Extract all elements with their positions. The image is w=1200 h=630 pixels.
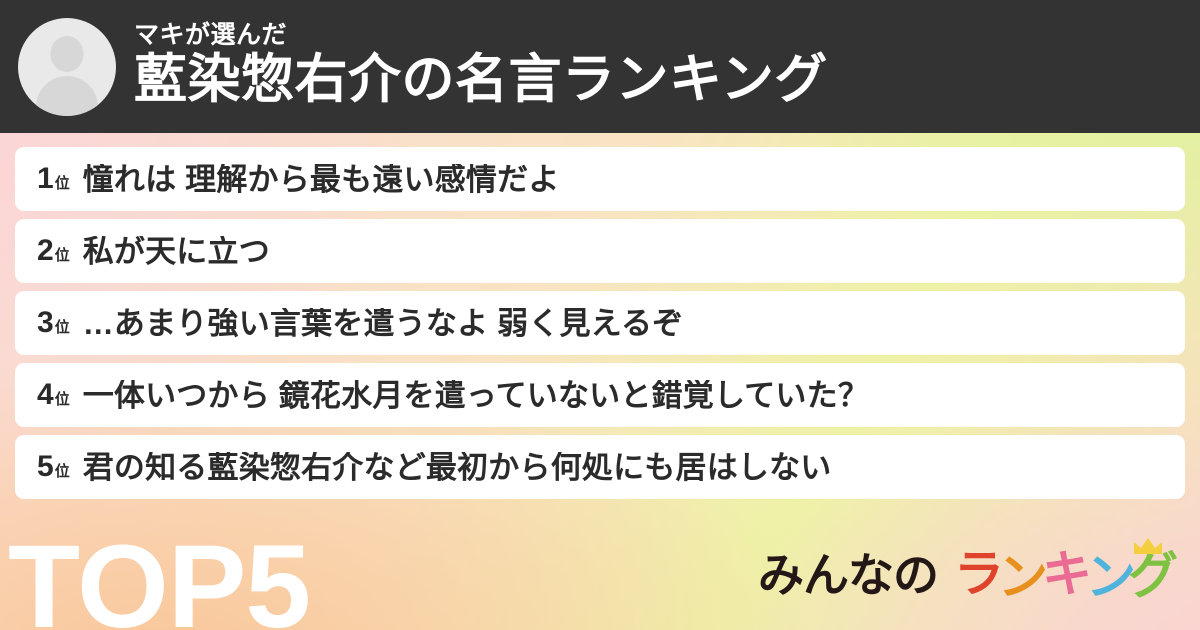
avatar-head-shape (51, 36, 84, 72)
avatar-body-shape (36, 76, 98, 116)
ranking-row-3[interactable]: 3位 …あまり強い言葉を遣うなよ 弱く見えるぞ (15, 291, 1185, 355)
rank-label-2: 私が天に立つ (83, 236, 270, 267)
rank-number-1: 1位 (37, 164, 70, 194)
ranking-row-1[interactable]: 1位 憧れは 理解から最も遠い感情だよ (15, 147, 1185, 211)
ranking-row-2[interactable]: 2位 私が天に立つ (15, 219, 1185, 283)
rank-value-5: 5 (37, 452, 54, 482)
rank-unit-5: 位 (55, 464, 70, 479)
rank-unit-1: 位 (55, 176, 70, 191)
user-avatar-icon (18, 18, 116, 116)
header-subtitle: マキが選んだ (134, 22, 828, 48)
rank-unit-2: 位 (55, 248, 70, 263)
crown-icon (1134, 538, 1162, 554)
rank-label-5: 君の知る藍染惣右介など最初から何処にも居はしない (83, 452, 832, 483)
rank-value-1: 1 (37, 164, 54, 194)
logo-char-ra: ラ (954, 545, 1004, 603)
top5-watermark: TOP5 (8, 528, 310, 630)
rank-value-3: 3 (37, 308, 54, 338)
rank-label-4: 一体いつから 鏡花水月を遣っていないと錯覚していた？ (83, 380, 869, 411)
ranking-share-card: マキが選んだ 藍染惣右介の名言ランキング 1位 憧れは 理解から最も遠い感情だよ… (0, 0, 1200, 630)
logo-artwork: みんなの ラ ン キ ン グ (758, 536, 1178, 608)
header-text-block: マキが選んだ 藍染惣右介の名言ランキング (134, 22, 828, 112)
page-title: 藍染惣右介の名言ランキング (134, 50, 828, 109)
rank-unit-3: 位 (55, 320, 70, 335)
ranking-list: 1位 憧れは 理解から最も遠い感情だよ 2位 私が天に立つ 3位 …あまり強い言… (15, 147, 1185, 507)
rank-number-3: 3位 (37, 308, 70, 338)
header-bar: マキが選んだ 藍染惣右介の名言ランキング (0, 0, 1200, 133)
logo-char-ki: キ (1042, 545, 1092, 603)
rank-unit-4: 位 (55, 392, 70, 407)
logo-black-text: みんなの (758, 548, 938, 602)
ranking-row-5[interactable]: 5位 君の知る藍染惣右介など最初から何処にも居はしない (15, 435, 1185, 499)
rank-value-2: 2 (37, 236, 54, 266)
rank-label-1: 憧れは 理解から最も遠い感情だよ (83, 164, 560, 195)
minna-no-ranking-logo[interactable]: みんなの ラ ン キ ン グ (758, 538, 1178, 608)
logo-char-gu: グ (1128, 547, 1178, 605)
rank-number-4: 4位 (37, 380, 70, 410)
rank-number-5: 5位 (37, 452, 70, 482)
rank-label-3: …あまり強い言葉を遣うなよ 弱く見えるぞ (83, 308, 684, 339)
logo-char-n1: ン (998, 548, 1048, 606)
rank-value-4: 4 (37, 380, 54, 410)
ranking-row-4[interactable]: 4位 一体いつから 鏡花水月を遣っていないと錯覚していた？ (15, 363, 1185, 427)
rank-number-2: 2位 (37, 236, 70, 266)
